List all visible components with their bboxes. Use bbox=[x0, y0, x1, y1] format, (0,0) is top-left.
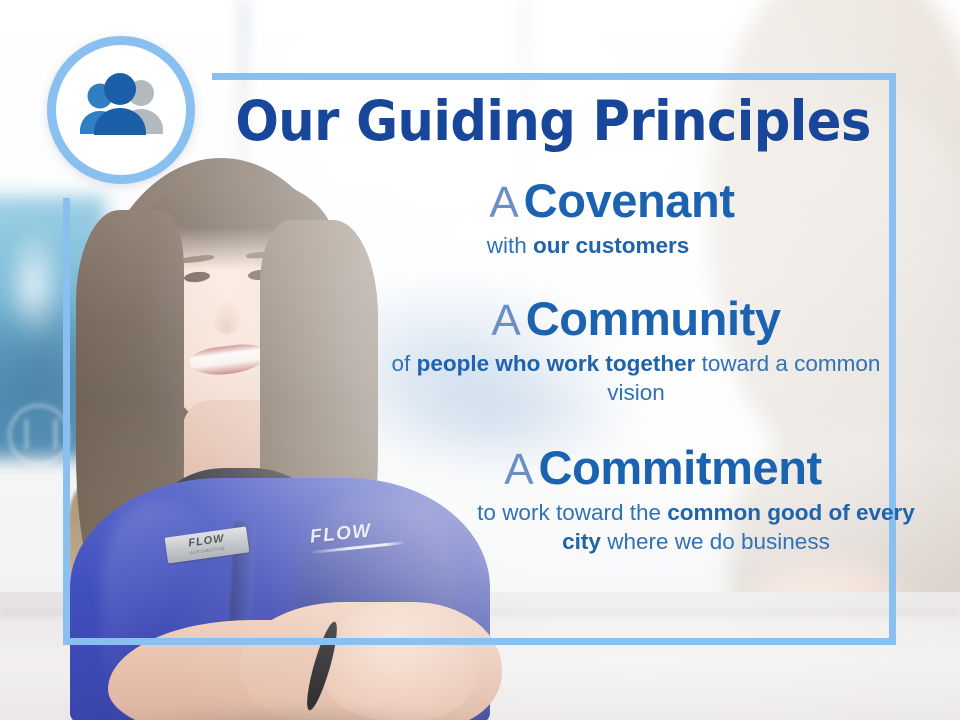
principle-commitment-article: A bbox=[504, 445, 534, 494]
blurred-brand-emblem bbox=[8, 404, 70, 466]
people-group-icon bbox=[73, 73, 169, 147]
page-title: Our Guiding Principles bbox=[235, 93, 856, 150]
employee-desk-shadow bbox=[92, 706, 492, 720]
employee-nose bbox=[212, 300, 242, 334]
principle-community-subtitle: of people who work together toward a com… bbox=[376, 349, 896, 408]
principle-community-article: A bbox=[491, 296, 521, 345]
principle-covenant: A Covenant with our customers bbox=[328, 176, 896, 260]
principle-community: A Community of people who work together … bbox=[376, 294, 896, 407]
principle-community-title: A Community bbox=[376, 294, 896, 345]
guiding-principles-banner: FLOW FLOW AUTOMOTIVE bbox=[0, 0, 960, 720]
principle-commitment-subtitle: to work toward the common good of every … bbox=[466, 498, 926, 557]
principle-covenant-subtitle: with our customers bbox=[328, 231, 848, 260]
principles-list: A Covenant with our customers A Communit… bbox=[300, 176, 896, 565]
principle-commitment: A Commitment to work toward the common g… bbox=[430, 443, 896, 556]
principle-commitment-title: A Commitment bbox=[430, 443, 896, 494]
employee-clasped-hands bbox=[320, 602, 480, 720]
people-group-icon-badge bbox=[47, 36, 195, 184]
principle-community-word: Community bbox=[526, 292, 781, 345]
principle-covenant-article: A bbox=[489, 178, 519, 227]
principle-covenant-title: A Covenant bbox=[328, 176, 896, 227]
principle-commitment-word: Commitment bbox=[539, 441, 822, 494]
principle-covenant-word: Covenant bbox=[524, 174, 735, 227]
